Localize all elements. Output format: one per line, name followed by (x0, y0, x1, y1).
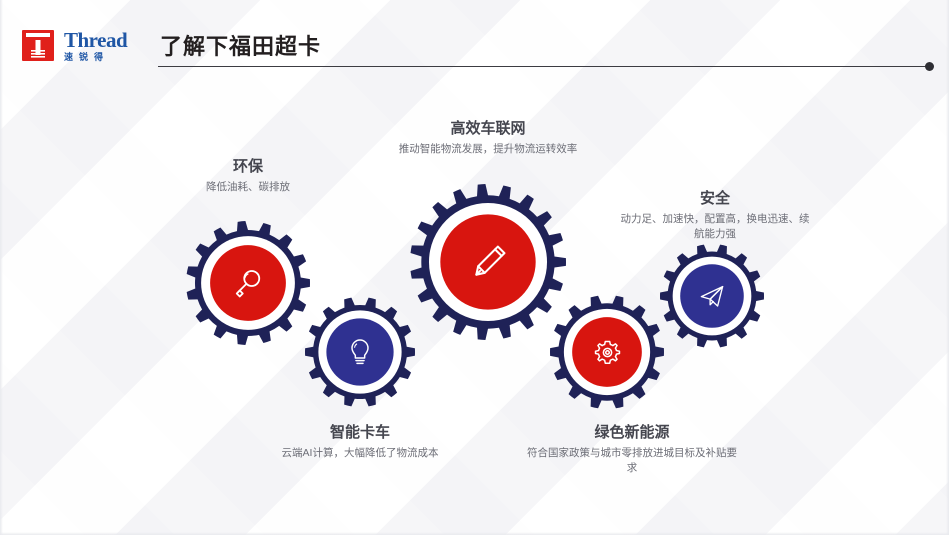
caption-subtitle-zhineng-kache: 云端AI计算，大幅降低了物流成本 (260, 446, 460, 461)
caption-title-lvse-xinnengyuan: 绿色新能源 (527, 424, 737, 443)
caption-gaoxiao-chelianwang: 高效车联网 推动智能物流发展，提升物流运转效率 (388, 120, 588, 157)
caption-title-anquan: 安全 (620, 190, 810, 209)
caption-title-huanbao: 环保 (148, 158, 348, 177)
gear-node-anquan[interactable] (656, 240, 768, 352)
caption-subtitle-anquan: 动力足、加速快，配置高，换电迅速、续航能力强 (620, 212, 810, 242)
slide-header: Thread 速锐得 了解下福田超卡 (0, 0, 949, 80)
gear-node-zhineng-kache[interactable] (301, 293, 419, 411)
gear-node-lvse-xinnengyuan[interactable] (546, 291, 668, 413)
page-title: 了解下福田超卡 (160, 29, 321, 61)
caption-lvse-xinnengyuan: 绿色新能源 符合国家政策与城市零排放进城目标及补贴要求 (527, 424, 737, 476)
title-divider-dot (925, 62, 934, 71)
brand-logo: Thread 速锐得 (22, 28, 127, 62)
slide-edge-left (0, 0, 3, 535)
caption-subtitle-huanbao: 降低油耗、碳排放 (148, 180, 348, 195)
caption-title-zhineng-kache: 智能卡车 (260, 424, 460, 443)
caption-zhineng-kache: 智能卡车 云端AI计算，大幅降低了物流成本 (260, 424, 460, 461)
slide-canvas: Thread 速锐得 了解下福田超卡 (0, 0, 949, 535)
caption-anquan: 安全 动力足、加速快，配置高，换电迅速、续航能力强 (620, 190, 810, 242)
gear-node-huanbao[interactable] (182, 217, 314, 349)
thread-logo-mark (22, 28, 56, 62)
caption-subtitle-lvse-xinnengyuan: 符合国家政策与城市零排放进城目标及补贴要求 (527, 446, 737, 476)
caption-subtitle-gaoxiao-chelianwang: 推动智能物流发展，提升物流运转效率 (388, 142, 588, 157)
logo-wordmark: Thread 速锐得 (64, 30, 127, 62)
title-divider (158, 66, 928, 67)
caption-title-gaoxiao-chelianwang: 高效车联网 (388, 120, 588, 139)
logo-cn-text: 速锐得 (64, 53, 109, 62)
caption-huanbao: 环保 降低油耗、碳排放 (148, 158, 348, 195)
logo-en-text: Thread (64, 30, 127, 51)
